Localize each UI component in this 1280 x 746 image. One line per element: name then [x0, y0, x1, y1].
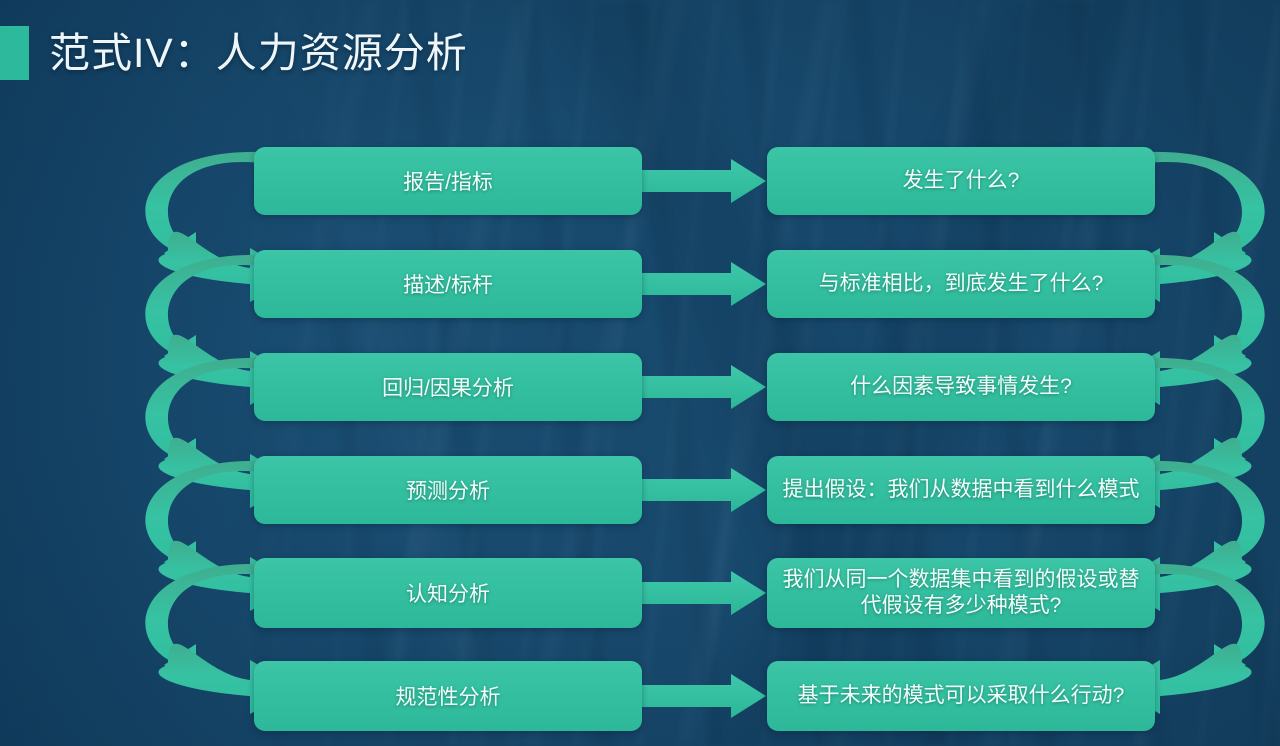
stage-label: 报告/指标	[403, 166, 493, 196]
slide-canvas: 范式IV：人力资源分析	[0, 0, 1280, 746]
stage-box-4[interactable]: 预测分析	[254, 456, 642, 524]
question-box-1[interactable]: 发生了什么?	[767, 147, 1155, 215]
stage-box-2[interactable]: 描述/标杆	[254, 250, 642, 318]
question-box-2[interactable]: 与标准相比，到底发生了什么?	[767, 250, 1155, 318]
question-label: 我们从同一个数据集中看到的假设或替代假设有多少种模式?	[779, 567, 1143, 618]
title-bullet-square	[0, 26, 29, 80]
question-label: 发生了什么?	[903, 168, 1020, 194]
stage-box-5[interactable]: 认知分析	[254, 558, 642, 628]
stage-label: 回归/因果分析	[382, 372, 514, 402]
question-label: 提出假设：我们从数据中看到什么模式	[783, 477, 1140, 503]
slide-title-bar: 范式IV：人力资源分析	[0, 26, 468, 80]
page-title: 范式IV：人力资源分析	[49, 33, 468, 74]
question-box-6[interactable]: 基于未来的模式可以采取什么行动?	[767, 661, 1155, 731]
question-box-3[interactable]: 什么因素导致事情发生?	[767, 353, 1155, 421]
stage-label: 描述/标杆	[403, 269, 493, 299]
stage-box-6[interactable]: 规范性分析	[254, 661, 642, 731]
question-box-4[interactable]: 提出假设：我们从数据中看到什么模式	[767, 456, 1155, 524]
question-label: 什么因素导致事情发生?	[850, 374, 1072, 400]
question-box-5[interactable]: 我们从同一个数据集中看到的假设或替代假设有多少种模式?	[767, 558, 1155, 628]
question-label: 基于未来的模式可以采取什么行动?	[798, 683, 1125, 709]
stage-label: 预测分析	[406, 475, 490, 505]
stage-box-1[interactable]: 报告/指标	[254, 147, 642, 215]
question-label: 与标准相比，到底发生了什么?	[819, 271, 1104, 297]
stage-box-3[interactable]: 回归/因果分析	[254, 353, 642, 421]
stage-label: 规范性分析	[396, 681, 501, 711]
stage-label: 认知分析	[406, 578, 490, 608]
